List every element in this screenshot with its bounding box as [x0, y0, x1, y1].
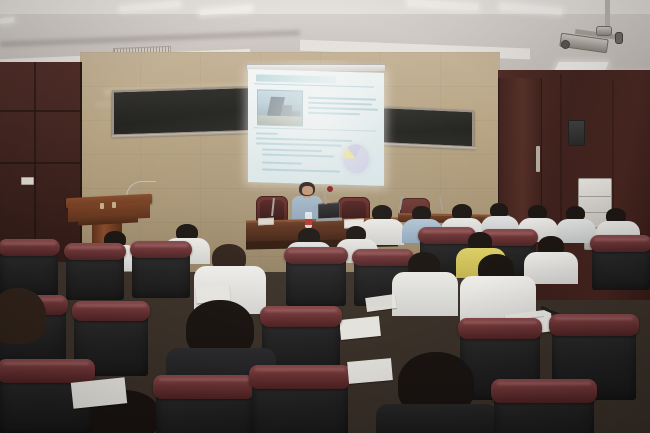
- slide-title-bar: [256, 74, 336, 83]
- slide-text-line: [256, 137, 352, 141]
- seat-headrest-trim: [352, 249, 413, 266]
- papers-on-table[interactable]: [258, 218, 274, 226]
- desk-microphone[interactable]: [327, 186, 333, 192]
- note-paper[interactable]: [339, 316, 381, 340]
- slide-divider: [254, 127, 376, 131]
- attendee-shirt: [376, 404, 498, 433]
- blackboard-left: [112, 86, 266, 137]
- seat-headrest-trim: [0, 239, 60, 256]
- slide-text-line: [308, 107, 378, 110]
- auditorium-seat[interactable]: [132, 250, 190, 298]
- slide-text-line: [308, 112, 360, 115]
- auditorium-seat[interactable]: [252, 378, 348, 433]
- water-bottle-label: [305, 219, 312, 225]
- seat-headrest-trim: [130, 241, 191, 258]
- seat-headrest-trim: [72, 301, 150, 321]
- slide-text-line: [262, 168, 340, 172]
- cabinet-seam: [578, 196, 612, 197]
- auditorium-seat[interactable]: [66, 252, 124, 300]
- seat-headrest-trim: [590, 235, 650, 252]
- slide-text-line: [308, 102, 372, 105]
- attendee-shirt: [392, 272, 458, 316]
- door-handle[interactable]: [536, 146, 540, 172]
- projector-bracket: [596, 26, 612, 36]
- seat-headrest-trim: [284, 247, 348, 264]
- auditorium-seat[interactable]: [592, 244, 650, 290]
- auditorium-seat[interactable]: [156, 388, 252, 433]
- note-paper[interactable]: [347, 358, 393, 384]
- projector-cable-boot: [615, 32, 623, 44]
- projector-lens-icon: [561, 40, 570, 49]
- seat-headrest-trim: [0, 359, 95, 383]
- conference-room-photo: [0, 0, 650, 433]
- slide-text-line: [308, 97, 376, 100]
- slide-text-line: [256, 142, 342, 146]
- projection-screen: [248, 69, 384, 186]
- podium-control-button[interactable]: [100, 203, 104, 209]
- wall-switch-plate[interactable]: [21, 177, 34, 185]
- panel-seam: [0, 162, 82, 164]
- presenter-face: [302, 186, 313, 195]
- seat-headrest-trim: [491, 379, 597, 403]
- wall-mounted-speaker: [568, 120, 585, 146]
- seat-headrest-trim: [260, 306, 343, 327]
- slide-photo-ground: [258, 115, 302, 125]
- slide-pie-chart: [343, 144, 369, 174]
- panel-seam: [0, 110, 82, 112]
- auditorium-seat[interactable]: [494, 392, 594, 433]
- seat-headrest-trim: [549, 314, 638, 336]
- seat-headrest-trim: [249, 365, 351, 389]
- attendee-hair: [0, 288, 46, 344]
- seat-headrest-trim: [64, 243, 125, 260]
- panel-seam: [34, 62, 36, 262]
- slide-text-line: [256, 132, 278, 134]
- slide-text-line: [262, 153, 334, 157]
- seat-headrest-trim: [458, 318, 543, 339]
- seat-headrest-trim: [153, 375, 255, 399]
- blackboard-right: [372, 106, 474, 149]
- auditorium-seat[interactable]: [286, 256, 346, 306]
- slide-photo: [257, 89, 303, 126]
- slide-text-line: [262, 161, 302, 164]
- podium-control-button[interactable]: [112, 202, 116, 208]
- slide-title-underline: [254, 83, 374, 87]
- slide-text-line: [262, 148, 322, 151]
